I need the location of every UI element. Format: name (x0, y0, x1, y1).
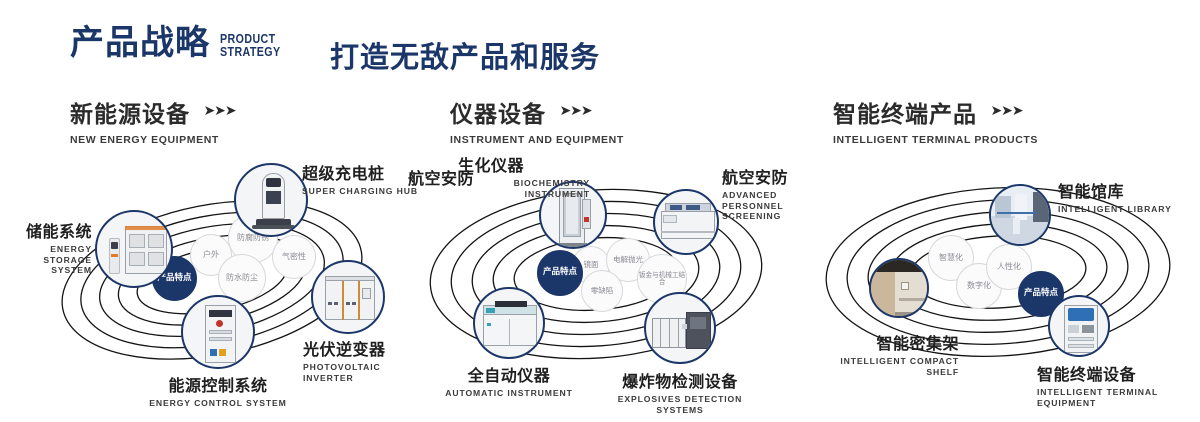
screening-machine-artwork (655, 191, 717, 253)
node-label-en: INTELLIGENT TERMINAL EQUIPMENT (1037, 387, 1200, 408)
terminal-kiosk-artwork (1050, 297, 1108, 355)
node-label-en: ENERGY STORAGE SYSTEM (0, 244, 92, 276)
node-label-en: INTELLIGENT LIBRARY (1058, 204, 1188, 215)
page-header: 产品战略 PRODUCT STRATEGY (70, 26, 294, 60)
node-intelligent-compact-shelf[interactable] (869, 258, 929, 318)
node-intelligent-library[interactable] (989, 184, 1051, 246)
section-title-cn: 仪器设备 (450, 95, 546, 129)
section-title-en: NEW ENERGY EQUIPMENT (70, 134, 236, 146)
node-label-cn: 储能系统 (0, 218, 92, 242)
section-title-en: INSTRUMENT AND EQUIPMENT (450, 134, 624, 146)
feature-bubble: 气密性 (272, 235, 316, 279)
product-strategy-infographic: 产品战略 PRODUCT STRATEGY 打造无敌产品和服务 新能源设备 ➤➤… (0, 0, 1200, 422)
inverter-artwork (313, 262, 383, 332)
node-label-cn: 能源控制系统 (115, 372, 321, 396)
page-slogan: 打造无敌产品和服务 (330, 34, 600, 76)
page-title-en-line2: STRATEGY (220, 45, 281, 58)
library-photo-artwork (991, 186, 1049, 244)
energy-storage-artwork (97, 212, 171, 286)
label-intelligent-compact-shelf: 智能密集架 INTELLIGENT COMPACT SHELF (814, 330, 959, 377)
section-title-en: INTELLIGENT TERMINAL PRODUCTS (833, 134, 1038, 146)
label-energy-control-system: 能源控制系统 ENERGY CONTROL SYSTEM (115, 372, 321, 409)
node-label-cn: 智能馆库 (1058, 178, 1188, 202)
label-automatic-instrument: 全自动仪器 AUTOMATIC INSTRUMENT (435, 362, 583, 399)
node-intelligent-terminal-equipment[interactable] (1048, 295, 1110, 357)
cluster-intelligent: 智慧化 数字化 人性化 产品特点 智能馆库 INTELLIGENT LIBRAR… (800, 150, 1200, 400)
node-advanced-personnel-screening[interactable] (653, 189, 719, 255)
node-label-en: INTELLIGENT COMPACT SHELF (814, 356, 959, 377)
chevron-right-icon: ➤➤➤ (559, 102, 591, 119)
section-header-instrument: 仪器设备 ➤➤➤ INSTRUMENT AND EQUIPMENT (450, 95, 624, 146)
node-energy-storage[interactable] (95, 210, 173, 288)
page-title-cn: 产品战略 (70, 26, 210, 60)
section-header-new-energy: 新能源设备 ➤➤➤ NEW ENERGY EQUIPMENT (70, 95, 236, 146)
node-label-cn: 生化仪器 (458, 152, 590, 176)
label-energy-storage: 储能系统 ENERGY STORAGE SYSTEM (0, 218, 92, 276)
compact-shelf-photo-artwork (871, 260, 927, 316)
section-title-cn: 智能终端产品 (833, 95, 977, 129)
node-label-en: AUTOMATIC INSTRUMENT (435, 388, 583, 399)
section-header-intelligent: 智能终端产品 ➤➤➤ INTELLIGENT TERMINAL PRODUCTS (833, 95, 1038, 146)
node-photovoltaic-inverter[interactable] (311, 260, 385, 334)
cluster-instrument: 航空安防 镜面 电解抛光 钣金与机械工结合 零缺陷 产品特点 生化仪器 BIOC… (400, 150, 820, 400)
explosives-detection-artwork (646, 294, 714, 362)
node-super-charging-hub[interactable] (234, 163, 308, 237)
node-label-cn: 全自动仪器 (435, 362, 583, 386)
section-title-cn: 新能源设备 (70, 95, 190, 129)
control-cabinet-artwork (183, 297, 253, 367)
charging-hub-artwork (236, 165, 306, 235)
feature-bubble: 零缺陷 (581, 270, 623, 312)
page-title-en: PRODUCT STRATEGY (220, 32, 281, 58)
label-intelligent-library: 智能馆库 INTELLIGENT LIBRARY (1058, 178, 1188, 215)
node-label-cn: 爆炸物检测设备 (605, 368, 755, 392)
label-intelligent-terminal-equipment: 智能终端设备 INTELLIGENT TERMINAL EQUIPMENT (1037, 361, 1200, 408)
automatic-instrument-artwork (475, 289, 543, 357)
node-energy-control-system[interactable] (181, 295, 255, 369)
chevron-right-icon: ➤➤➤ (203, 102, 235, 119)
cluster-new-energy: 户外 防腐防锈 防水防尘 气密性 产品特点 储能系统 ENERGY STORAG… (0, 150, 420, 400)
node-label-en: EXPLOSIVES DETECTION SYSTEMS (605, 394, 755, 415)
node-label-cn: 智能密集架 (814, 330, 959, 354)
node-label-en: ENERGY CONTROL SYSTEM (115, 398, 321, 409)
chevron-right-icon: ➤➤➤ (990, 102, 1022, 119)
node-label-cn: 智能终端设备 (1037, 361, 1200, 385)
label-explosives-detection: 爆炸物检测设备 EXPLOSIVES DETECTION SYSTEMS (605, 368, 755, 415)
node-label-en: BIOCHEMISTRY INSTRUMENT (458, 178, 590, 199)
core-bubble: 产品特点 (537, 250, 583, 296)
label-biochemistry-instrument: 生化仪器 BIOCHEMISTRY INSTRUMENT (458, 152, 590, 199)
node-automatic-instrument[interactable] (473, 287, 545, 359)
node-explosives-detection[interactable] (644, 292, 716, 364)
